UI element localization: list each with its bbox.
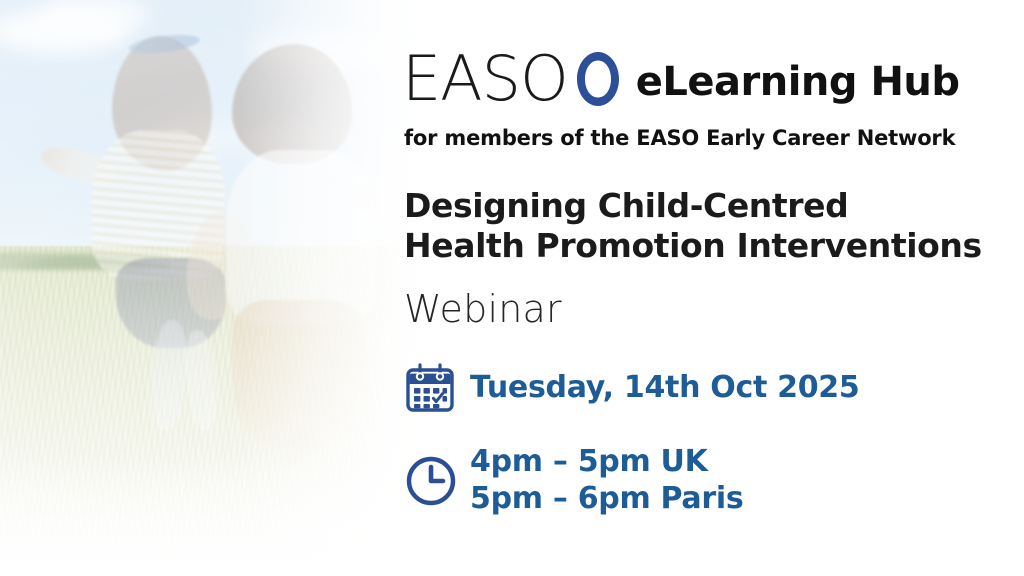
content-panel: EASO eLearning Hub for members of the EA…	[400, 0, 1024, 576]
hero-photo	[0, 0, 430, 576]
event-time-row: 4pm – 5pm UK 5pm – 6pm Paris	[404, 444, 743, 517]
clock-icon	[404, 454, 470, 508]
calendar-icon	[404, 362, 470, 414]
event-title: Designing Child-Centred Health Promotion…	[404, 186, 982, 267]
elearning-hub-label: eLearning Hub	[636, 62, 960, 102]
webinar-promo-slide: EASO eLearning Hub for members of the EA…	[0, 0, 1024, 576]
brand-tagline: for members of the EASO Early Career Net…	[404, 126, 955, 150]
child-boy-shirt	[226, 150, 376, 325]
event-date-row: Tuesday, 14th Oct 2025	[404, 362, 859, 414]
easo-o-icon	[569, 50, 627, 108]
event-time-line-2: 5pm – 6pm Paris	[470, 481, 743, 518]
event-date-text: Tuesday, 14th Oct 2025	[470, 373, 859, 403]
event-format: Webinar	[404, 290, 562, 328]
event-time-line-1: 4pm – 5pm UK	[470, 444, 743, 481]
event-title-line-1: Designing Child-Centred	[404, 186, 982, 226]
easo-logo-lockup: EASO eLearning Hub	[402, 48, 960, 110]
child-boy-shorts	[232, 300, 368, 450]
event-time-text: 4pm – 5pm UK 5pm – 6pm Paris	[470, 444, 743, 517]
event-title-line-2: Health Promotion Interventions	[404, 226, 982, 266]
child-boy-leg	[282, 430, 328, 525]
easo-wordmark: EASO	[402, 48, 568, 110]
